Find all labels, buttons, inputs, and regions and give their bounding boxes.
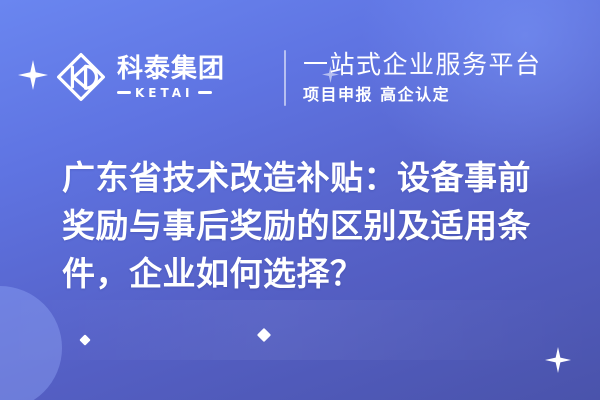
header-divider xyxy=(284,50,286,106)
brand-rule-right-icon xyxy=(198,91,212,94)
banner-header: 科泰集团 KETAI 一站式企业服务平台 项目申报 高企认定 xyxy=(0,42,600,112)
promo-banner: 科泰集团 KETAI 一站式企业服务平台 项目申报 高企认定 广东省技术改造补贴… xyxy=(0,0,600,400)
sparkle-star-icon xyxy=(545,347,571,373)
diamond-dot-icon xyxy=(79,334,90,345)
background-circle-left xyxy=(0,286,62,400)
tagline-sub: 项目申报 高企认定 xyxy=(303,86,542,104)
background-sheen xyxy=(0,300,600,360)
tagline-main: 一站式企业服务平台 xyxy=(303,51,542,80)
brand-text: 科泰集团 KETAI xyxy=(117,56,225,99)
brand-lockup: 科泰集团 KETAI xyxy=(54,42,225,112)
tagline-block: 一站式企业服务平台 项目申报 高企认定 xyxy=(303,42,542,112)
brand-name-en: KETAI xyxy=(135,87,194,99)
diamond-dot-icon xyxy=(257,328,271,342)
page-title: 广东省技术改造补贴：设备事前奖励与事后奖励的区别及适用条件，企业如何选择？ xyxy=(62,154,558,298)
brand-rule-left-icon xyxy=(117,91,131,94)
ketai-kd-diamond-logo-icon xyxy=(54,50,108,104)
brand-name-en-row: KETAI xyxy=(117,87,225,99)
brand-name-cn: 科泰集团 xyxy=(117,56,225,82)
